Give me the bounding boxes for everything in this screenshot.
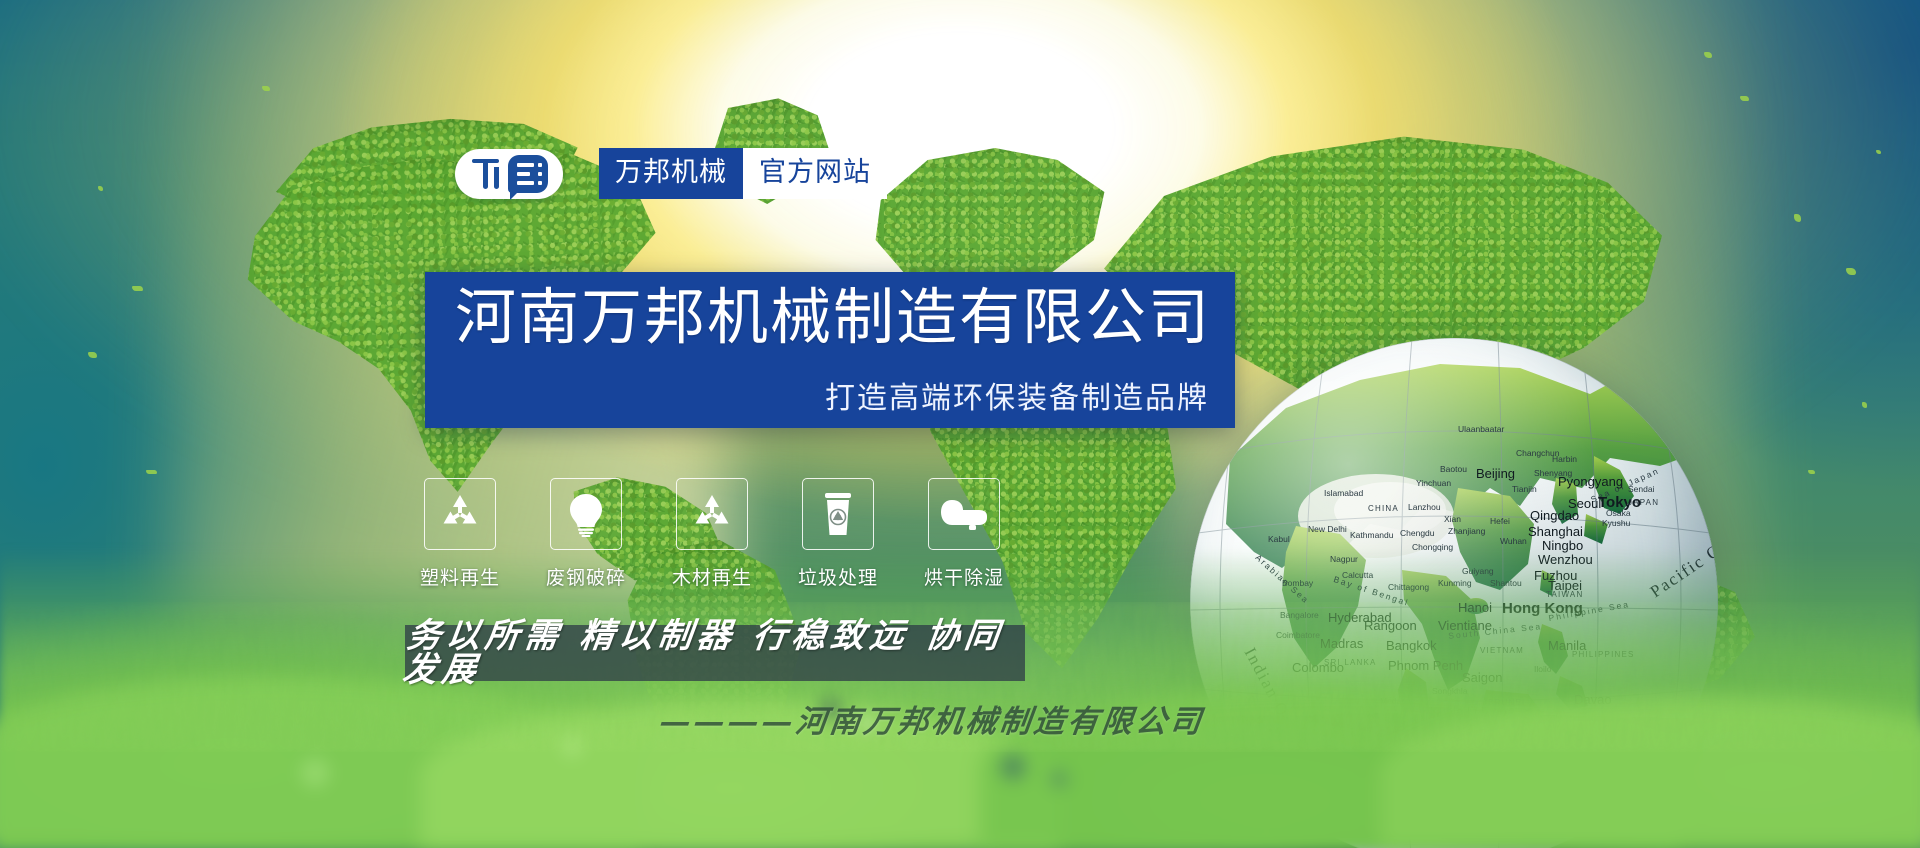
feature-icon-box — [424, 478, 496, 550]
trash-bin-icon — [820, 490, 856, 538]
feature-label: 废钢破碎 — [546, 563, 626, 590]
leaf-fleck — [98, 186, 103, 191]
hero-banner: Pacific OceanIndian OceanSouth China Sea… — [0, 0, 1920, 848]
wanbang-wb-logo-icon[interactable] — [455, 149, 563, 199]
leaf-fleck — [132, 286, 143, 291]
brand-badge-row: 万邦机械 官方网站 — [455, 148, 887, 199]
leaf-fleck — [1862, 402, 1867, 408]
leaf-fleck — [1808, 470, 1815, 474]
leaf-fleck — [146, 470, 157, 474]
logo-speech-bubble-icon — [508, 155, 548, 193]
feature-icon-row: 塑料再生 废钢破碎 — [424, 478, 1000, 590]
feature-label: 木材再生 — [672, 563, 752, 590]
bokeh-speck — [1000, 754, 1026, 780]
feature-item-waste-treatment[interactable]: 垃圾处理 — [802, 478, 874, 590]
leaf-fleck — [1846, 268, 1856, 275]
slogan-banner: 务以所需 精以制器 行稳致远 协同发展 — [405, 625, 1025, 681]
company-title: 河南万邦机械制造有限公司 — [455, 286, 1211, 351]
bokeh-speck — [300, 758, 330, 788]
feature-icon-box — [802, 478, 874, 550]
leaf-fleck — [1876, 150, 1881, 154]
feature-item-drying-dehumidifying[interactable]: 烘干除湿 — [928, 478, 1000, 590]
feature-icon-box — [676, 478, 748, 550]
leaf-fleck — [1740, 96, 1749, 101]
leaf-fleck — [88, 352, 97, 358]
recycle-icon — [437, 491, 483, 537]
slogan-signature: ————河南万邦机械制造有限公司 — [657, 696, 1207, 741]
leaf-fleck — [1704, 52, 1712, 58]
feature-item-scrap-steel-crushing[interactable]: 废钢破碎 — [550, 478, 622, 590]
slogan-text: 务以所需 精以制器 行稳致远 协同发展 — [401, 619, 1029, 687]
brand-name-tag[interactable]: 万邦机械 — [599, 148, 743, 199]
company-subtitle: 打造高端环保装备制造品牌 — [825, 384, 1209, 414]
leaf-fleck — [262, 86, 270, 91]
feature-icon-box — [550, 478, 622, 550]
feature-item-wood-recycling[interactable]: 木材再生 — [676, 478, 748, 590]
recycle-icon — [689, 491, 735, 537]
feature-item-plastic-recycling[interactable]: 塑料再生 — [424, 478, 496, 590]
feature-label: 塑料再生 — [420, 563, 500, 590]
feature-label: 垃圾处理 — [798, 563, 878, 590]
bokeh-speck — [1050, 770, 1068, 788]
feature-label: 烘干除湿 — [924, 563, 1004, 590]
leaf-fleck — [1794, 214, 1801, 222]
headline-panel: 河南万邦机械制造有限公司 打造高端环保装备制造品牌 — [425, 272, 1235, 428]
official-site-tag[interactable]: 官方网站 — [743, 148, 887, 199]
dryer-blower-icon — [939, 496, 989, 532]
feature-icon-box — [928, 478, 1000, 550]
lightbulb-icon — [565, 491, 607, 537]
logo-w-mark-icon — [471, 159, 503, 189]
